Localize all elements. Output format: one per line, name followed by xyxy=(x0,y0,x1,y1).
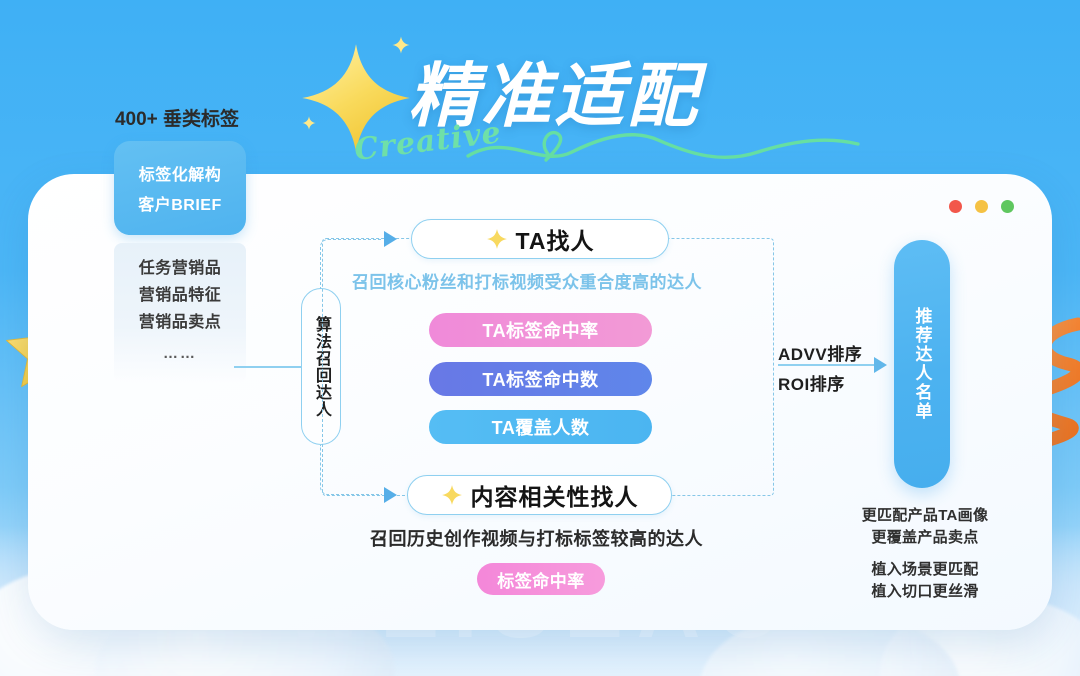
branch-title-content: 内容相关性找人 xyxy=(471,478,639,512)
minimize-dot[interactable] xyxy=(975,200,988,213)
branch-header-content[interactable]: 内容相关性找人 xyxy=(407,475,672,515)
meta-list: 任务营销品 营销品特征 营销品卖点 …… xyxy=(114,243,246,383)
list-item: 任务营销品 xyxy=(114,255,246,282)
poster-root: WEISEAO xyxy=(0,0,1080,676)
ranking-label-advv: ADVV排序 xyxy=(778,340,862,365)
metric-pill-ta-coverage[interactable]: TA覆盖人数 xyxy=(429,410,652,444)
maximize-dot[interactable] xyxy=(1001,200,1014,213)
arrow-to-ta-branch xyxy=(384,231,397,247)
benefit-item: 植入切口更丝滑 xyxy=(846,581,1004,603)
benefit-item: 更覆盖产品卖点 xyxy=(846,527,1004,549)
sparkle-icon xyxy=(486,228,508,250)
metric-pill-ta-tag-hit-count[interactable]: TA标签命中数 xyxy=(429,362,652,396)
connector-line-left xyxy=(234,366,302,368)
result-capsule[interactable]: 推荐达人名单 xyxy=(894,240,950,488)
metric-pill-tag-hit-rate[interactable]: 标签命中率 xyxy=(477,563,605,595)
brief-box[interactable]: 标签化解构 客户BRIEF xyxy=(114,141,246,235)
arrow-to-result xyxy=(874,357,887,373)
benefits-list: 更匹配产品TA画像 更覆盖产品卖点 植入场景更匹配 植入切口更丝滑 xyxy=(846,505,1004,603)
sparkle-icon xyxy=(441,484,463,506)
dashed-connector-bottom xyxy=(320,445,382,495)
tag-count-label: 400+ 垂类标签 xyxy=(94,104,260,131)
window-controls xyxy=(949,200,1014,213)
sparkle-small-icon xyxy=(302,116,316,130)
input-column: 400+ 垂类标签 标签化解构 客户BRIEF 任务营销品 营销品特征 营销品卖… xyxy=(100,104,260,383)
benefit-item: 植入场景更匹配 xyxy=(846,559,1004,581)
metric-pill-ta-tag-hit-rate[interactable]: TA标签命中率 xyxy=(429,313,652,347)
ranking-label-roi: ROI排序 xyxy=(778,370,845,395)
benefit-item: 更匹配产品TA画像 xyxy=(846,505,1004,527)
list-item: 营销品卖点 xyxy=(114,309,246,336)
brief-line-2: 客户BRIEF xyxy=(138,191,222,215)
branch-description-ta: 召回核心粉丝和打标视频受众重合度高的达人 xyxy=(352,268,702,293)
branch-description-content: 召回历史创作视频与打标标签较高的达人 xyxy=(370,525,703,551)
close-dot[interactable] xyxy=(949,200,962,213)
list-item-ellipsis: …… xyxy=(114,336,246,367)
arrow-to-content-branch xyxy=(384,487,397,503)
script-decoration: Creative xyxy=(340,122,860,172)
result-label: 推荐达人名单 xyxy=(910,307,935,421)
branch-header-ta[interactable]: TA找人 xyxy=(411,219,669,259)
branch-title-ta: TA找人 xyxy=(516,222,595,256)
brief-line-1: 标签化解构 xyxy=(139,161,222,185)
list-item: 营销品特征 xyxy=(114,282,246,309)
benefits-divider xyxy=(846,549,1004,559)
